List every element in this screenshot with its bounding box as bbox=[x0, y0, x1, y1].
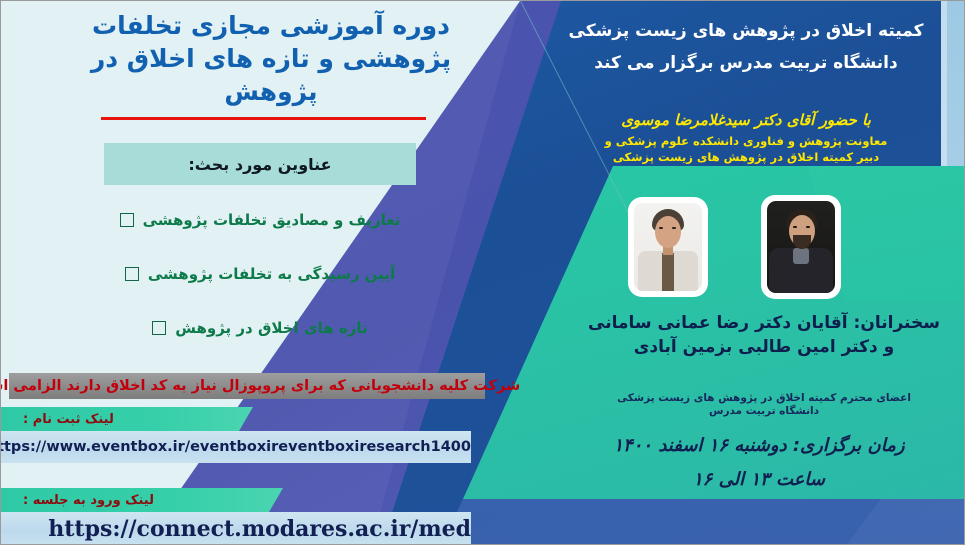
speakers-affiliation-2: دانشگاه تربیت مدرس bbox=[584, 404, 944, 419]
organizer-heading: کمیته اخلاق در پژوهش های زیست پزشکی دانش… bbox=[536, 15, 956, 80]
topic-label: تعاریف و مصادیق تخلفات پژوهشی bbox=[143, 211, 401, 229]
list-item: آیین رسیدگی به تخلفات پژوهشی bbox=[104, 247, 416, 301]
topic-label: آیین رسیدگی به تخلفات پژوهشی bbox=[148, 265, 395, 283]
speaker-photo-left bbox=[628, 197, 708, 297]
event-date: زمان برگزاری: دوشنبه ۱۶ اسفند ۱۴۰۰ bbox=[564, 435, 954, 456]
avatar bbox=[767, 201, 835, 293]
title-divider bbox=[101, 117, 426, 120]
topic-label: تازه های اخلاق در پژوهش bbox=[175, 319, 367, 337]
speakers-names: سخنرانان: آقایان دکتر رضا عمانی سامانی و… bbox=[584, 311, 944, 359]
topics-heading-label: عناوین مورد بحث: bbox=[188, 155, 331, 174]
guest-of-honor-role-2: دبیر کمیته اخلاق در پژوهش های زیست پزشکی bbox=[536, 149, 956, 166]
meeting-url-band: https://connect.modares.ac.ir/med bbox=[1, 512, 471, 545]
left-content-column: دوره آموزشی مجازی تخلفات پژوهشی و تازه ه… bbox=[1, 1, 521, 545]
guest-of-honor-name: با حضور آقای دکتر سیدغلامرضا موسوی bbox=[536, 111, 956, 129]
speaker-photo-right bbox=[761, 195, 841, 299]
meeting-url-link[interactable]: https://connect.modares.ac.ir/med bbox=[34, 516, 471, 542]
event-hours: ساعت ۱۳ الی ۱۶ bbox=[564, 469, 954, 490]
checkbox-icon bbox=[152, 321, 166, 335]
topics-heading-box: عناوین مورد بحث: bbox=[104, 143, 416, 185]
registration-link-label-banner: لینک ثبت نام : bbox=[1, 407, 253, 431]
notice-text: شرکت کلیه دانشجویانی که برای پروپوزال نی… bbox=[0, 378, 520, 394]
meeting-link-label-banner: لینک ورود به جلسه : bbox=[1, 488, 283, 512]
registration-url-link[interactable]: https://www.eventbox.ir/eventboxireventb… bbox=[0, 439, 471, 455]
registration-url-band: https://www.eventbox.ir/eventboxireventb… bbox=[1, 431, 471, 463]
checkbox-icon bbox=[120, 213, 134, 227]
registration-link-label: لینک ثبت نام : bbox=[23, 412, 114, 427]
list-item: تازه های اخلاق در پژوهش bbox=[104, 301, 416, 355]
avatar bbox=[634, 203, 702, 291]
organizer-line-2: دانشگاه تربیت مدرس برگزار می کند bbox=[536, 47, 956, 79]
meeting-link-label: لینک ورود به جلسه : bbox=[23, 493, 154, 508]
poster-canvas: دوره آموزشی مجازی تخلفات پژوهشی و تازه ه… bbox=[0, 0, 965, 545]
list-item: تعاریف و مصادیق تخلفات پژوهشی bbox=[104, 193, 416, 247]
mandatory-attendance-notice: شرکت کلیه دانشجویانی که برای پروپوزال نی… bbox=[9, 373, 485, 399]
organizer-line-1: کمیته اخلاق در پژوهش های زیست پزشکی bbox=[536, 15, 956, 47]
topics-list: تعاریف و مصادیق تخلفات پژوهشی آیین رسیدگ… bbox=[104, 193, 416, 355]
page-title: دوره آموزشی مجازی تخلفات پژوهشی و تازه ه… bbox=[41, 9, 501, 108]
right-content-column: کمیته اخلاق در پژوهش های زیست پزشکی دانش… bbox=[521, 1, 965, 545]
guest-of-honor-role-1: معاونت پژوهش و فناوری دانشکده علوم پزشکی… bbox=[536, 133, 956, 150]
checkbox-icon bbox=[125, 267, 139, 281]
